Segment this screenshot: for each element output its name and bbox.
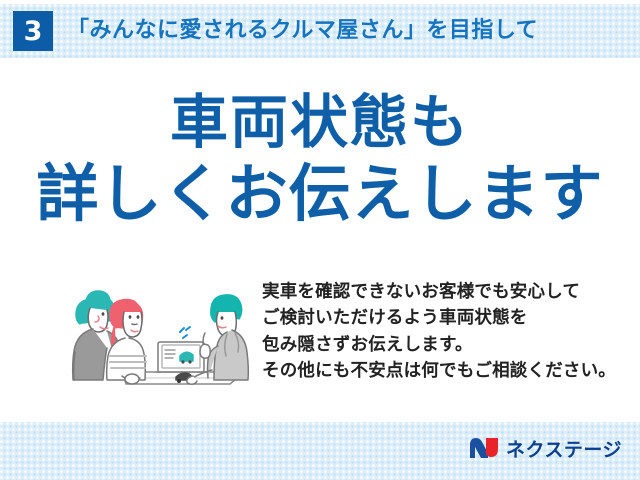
body-line-1: 実車を確認できないお客様でも安心して (262, 279, 634, 305)
headline: 車両状態も 詳しくお伝えします (0, 92, 640, 227)
consultation-illustration (52, 276, 256, 388)
brand-logo: ネクステージ (469, 437, 622, 463)
body-line-3: 包み隠さずお伝えします。 (262, 332, 634, 358)
body-copy: 実車を確認できないお客様でも安心して ご検討いただけるよう車両状態を 包み隠さず… (262, 279, 634, 384)
body-line-2: ご検討いただけるよう車両状態を (262, 305, 634, 331)
body-line-4: その他にも不安点は何でもご相談ください。 (262, 358, 634, 384)
headline-line-2: 詳しくお伝えします (0, 161, 640, 227)
promo-banner: 3 「みんなに愛されるクルマ屋さん」を目指して 車両状態も 詳しくお伝えします (0, 0, 640, 480)
nextage-n-icon (469, 437, 499, 463)
content-row: 実車を確認できないお客様でも安心して ご検討いただけるよう車両状態を 包み隠さず… (0, 276, 640, 394)
headline-line-1: 車両状態も (0, 92, 640, 153)
brand-name: ネクステージ (506, 441, 622, 460)
step-number-badge: 3 (13, 11, 53, 51)
header-title: 「みんなに愛されるクルマ屋さん」を目指して (67, 20, 538, 42)
header: 3 「みんなに愛されるクルマ屋さん」を目指して (0, 4, 640, 58)
